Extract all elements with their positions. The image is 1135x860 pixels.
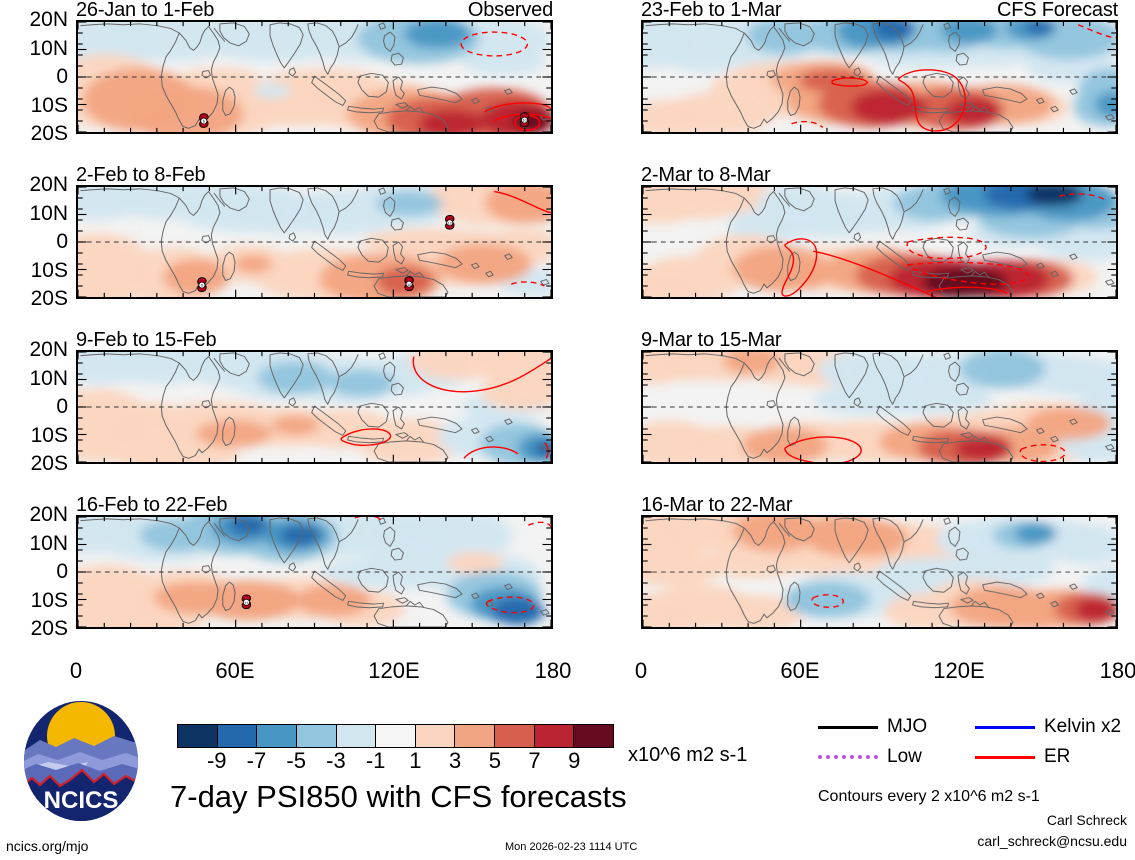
- map-field-svg: 61012: [78, 187, 551, 297]
- svg-text:10: 10: [407, 283, 411, 287]
- map-area-7: [641, 350, 1118, 464]
- map-area-5: [641, 20, 1118, 134]
- column-header-observed: Observed: [468, 0, 553, 22]
- y-tick-label: 10N: [2, 203, 68, 224]
- colorbar-tick-label: -3: [326, 748, 346, 774]
- y-tick-label: 20S: [2, 618, 68, 639]
- map-field-svg: [643, 22, 1116, 132]
- map-field-svg: [643, 352, 1116, 462]
- colorbar-cell-7: [455, 725, 495, 747]
- colorbar-tick-label: 9: [568, 748, 580, 774]
- panel-period-title-2: 2-Feb to 8-Feb: [76, 164, 206, 187]
- panel-period-title-8: 16-Mar to 22-Mar: [641, 494, 792, 517]
- colorbar-tick-label: 3: [449, 748, 461, 774]
- y-tick-label: 0: [2, 396, 68, 417]
- legend-item-low: Low: [818, 746, 922, 768]
- contour-interval-note: Contours every 2 x10^6 m2 s-1: [818, 788, 1040, 806]
- map-area-6: [641, 185, 1118, 299]
- colorbar-cell-10: [574, 725, 613, 747]
- colorbar-tick-label: 5: [489, 748, 501, 774]
- map-panel-2: 2-Feb to 8-Feb61012: [76, 164, 553, 299]
- map-panel-7: 9-Mar to 15-Mar: [641, 329, 1118, 464]
- colorbar-cell-3: [297, 725, 337, 747]
- y-tick-label: 20N: [2, 9, 68, 30]
- legend-item-mjo: MJO: [818, 716, 927, 738]
- colorbar-tick-label: 7: [528, 748, 540, 774]
- panel-period-title-5: 23-Feb to 1-Mar: [641, 0, 781, 22]
- y-tick-label: 10N: [2, 38, 68, 59]
- storm-marker: 10: [405, 277, 413, 291]
- legend-item-kelvin: Kelvin x2: [975, 716, 1121, 738]
- x-tick-label: 60E: [195, 658, 275, 684]
- legend-swatch-mjo: [818, 726, 878, 729]
- x-tick-label: 180: [513, 658, 593, 684]
- colorbar-tick-label: -7: [247, 748, 267, 774]
- svg-text:6: 6: [203, 120, 205, 124]
- map-panel-6: 2-Mar to 8-Mar: [641, 164, 1118, 299]
- legend-swatch-kelvin: [975, 726, 1035, 729]
- y-tick-label: 20S: [2, 453, 68, 474]
- y-tick-label: 10S: [2, 260, 68, 281]
- legend-item-er: ER: [975, 746, 1070, 768]
- storm-marker: H: [242, 595, 250, 609]
- map-panel-5: 23-Feb to 1-MarCFS Forecast: [641, 0, 1118, 134]
- map-panel-3: 9-Feb to 15-Feb: [76, 329, 553, 464]
- colorbar-cell-1: [218, 725, 258, 747]
- colorbar-tick-label: 1: [409, 748, 421, 774]
- x-tick-label: 0: [601, 658, 681, 684]
- ncics-logo-text: NCICS: [44, 787, 119, 814]
- storm-marker: 6: [200, 114, 208, 128]
- storm-marker: 10: [520, 113, 528, 127]
- map-field-svg: H: [78, 517, 551, 627]
- colorbar-tick-label: -1: [366, 748, 386, 774]
- colorbar-cell-8: [495, 725, 535, 747]
- y-tick-label: 10N: [2, 368, 68, 389]
- x-tick-label: 120E: [919, 658, 999, 684]
- map-panel-1: 26-Jan to 1-FebObserved610: [76, 0, 553, 134]
- svg-text:12: 12: [448, 221, 452, 225]
- colorbar-cell-0: [178, 725, 218, 747]
- footer-site-link[interactable]: ncics.org/mjo: [6, 838, 88, 854]
- legend-label-low: Low: [887, 746, 922, 768]
- colorbar-tick-label: -9: [207, 748, 227, 774]
- storm-marker: 6: [198, 278, 206, 292]
- y-tick-label: 20N: [2, 504, 68, 525]
- y-tick-label: 20N: [2, 174, 68, 195]
- svg-text:10: 10: [522, 119, 526, 123]
- y-tick-label: 10N: [2, 533, 68, 554]
- svg-text:H: H: [245, 601, 248, 605]
- x-tick-label: 60E: [760, 658, 840, 684]
- colorbar-units-label: x10^6 m2 s-1: [628, 744, 747, 767]
- legend-swatch-er: [975, 756, 1035, 759]
- y-tick-label: 20S: [2, 123, 68, 144]
- map-area-3: [76, 350, 553, 464]
- panel-period-title-7: 9-Mar to 15-Mar: [641, 329, 781, 352]
- main-title: 7-day PSI850 with CFS forecasts: [170, 779, 627, 815]
- colorbar-cell-6: [416, 725, 456, 747]
- y-tick-label: 0: [2, 66, 68, 87]
- colorbar-cell-2: [257, 725, 297, 747]
- map-area-2: 61012: [76, 185, 553, 299]
- svg-text:6: 6: [201, 284, 203, 288]
- map-panel-8: 16-Mar to 22-Mar: [641, 494, 1118, 629]
- x-tick-label: 180: [1078, 658, 1135, 684]
- panel-period-title-1: 26-Jan to 1-Feb: [76, 0, 214, 22]
- column-header-cfs-forecast: CFS Forecast: [997, 0, 1118, 22]
- map-field-svg: [78, 352, 551, 462]
- y-tick-label: 10S: [2, 95, 68, 116]
- footer-timestamp: Mon 2026-02-23 1114 UTC: [505, 841, 637, 853]
- y-tick-label: 0: [2, 231, 68, 252]
- panel-period-title-6: 2-Mar to 8-Mar: [641, 164, 770, 187]
- credit-name: Carl Schreck: [1047, 812, 1127, 828]
- colorbar-tick-label: -5: [286, 748, 306, 774]
- mjo-psi850-figure: 26-Jan to 1-FebObserved6102-Feb to 8-Feb…: [0, 0, 1135, 860]
- ncics-logo: NCICS: [22, 700, 140, 822]
- map-field-svg: 610: [78, 22, 551, 132]
- map-area-4: H: [76, 515, 553, 629]
- y-tick-label: 10S: [2, 425, 68, 446]
- colorbar: [177, 724, 614, 748]
- credit-email: carl_schreck@ncsu.edu: [977, 833, 1127, 849]
- y-tick-label: 10S: [2, 590, 68, 611]
- y-tick-label: 20N: [2, 339, 68, 360]
- map-area-8: [641, 515, 1118, 629]
- y-tick-label: 20S: [2, 288, 68, 309]
- map-area-1: 610: [76, 20, 553, 134]
- map-field-svg: [643, 187, 1116, 297]
- panel-period-title-3: 9-Feb to 15-Feb: [76, 329, 216, 352]
- panel-period-title-4: 16-Feb to 22-Feb: [76, 494, 227, 517]
- colorbar-cell-5: [376, 725, 416, 747]
- legend-label-kelvin: Kelvin x2: [1044, 716, 1121, 738]
- legend-label-er: ER: [1044, 746, 1070, 768]
- colorbar-cell-4: [337, 725, 377, 747]
- colorbar-cell-9: [535, 725, 575, 747]
- map-field-svg: [643, 517, 1116, 627]
- x-tick-label: 0: [36, 658, 116, 684]
- legend-swatch-low: [818, 755, 878, 759]
- ncics-logo-svg: NCICS: [22, 700, 140, 822]
- y-tick-label: 0: [2, 561, 68, 582]
- map-panel-4: 16-Feb to 22-FebH: [76, 494, 553, 629]
- legend-label-mjo: MJO: [887, 716, 927, 738]
- storm-marker: 12: [446, 215, 454, 229]
- x-tick-label: 120E: [354, 658, 434, 684]
